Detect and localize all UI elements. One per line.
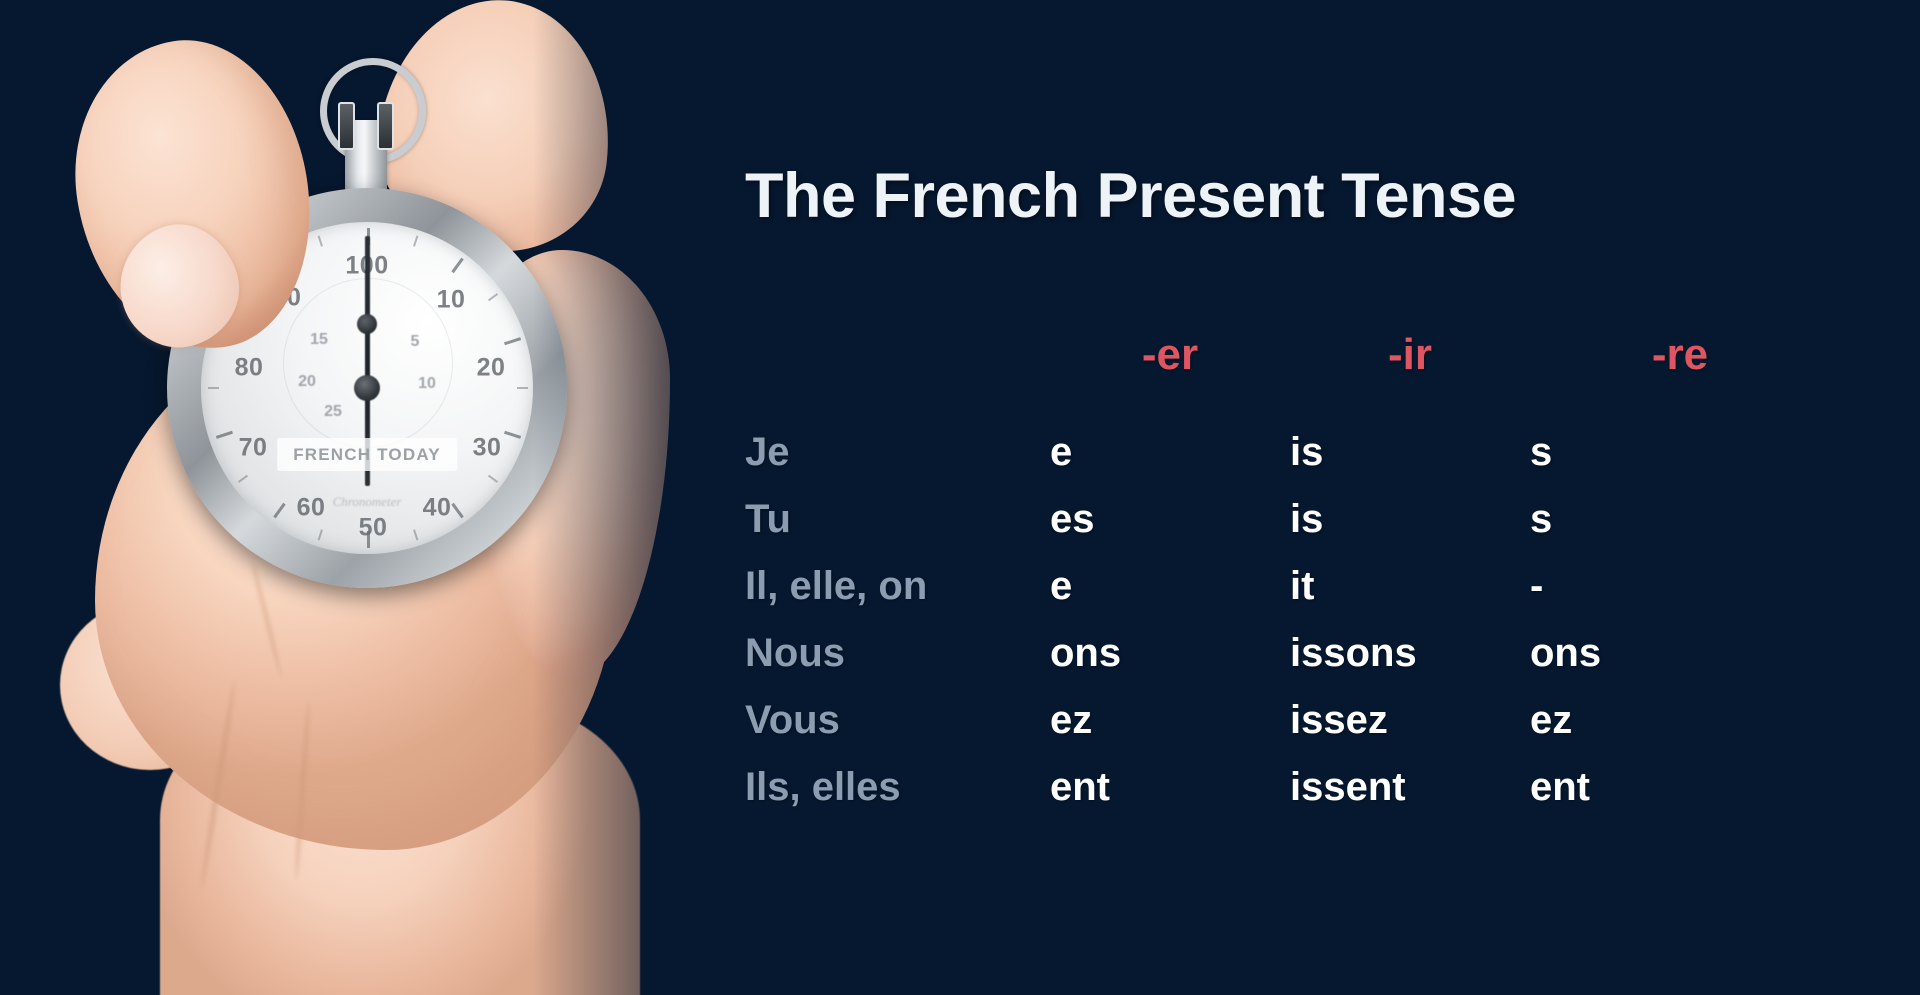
crown-teeth — [338, 102, 394, 146]
ending-ir-cell: is — [1290, 497, 1530, 542]
ending-er-cell: es — [1050, 497, 1290, 542]
dial-tick — [208, 387, 219, 389]
ending-re-cell: s — [1530, 497, 1830, 542]
dial-tick — [488, 475, 498, 483]
table-row: Tu es is s — [745, 497, 1755, 564]
sub-dial-number: 10 — [418, 375, 436, 393]
header-group-re: -re — [1530, 330, 1830, 380]
dial-tick — [451, 503, 463, 519]
dial-number: 80 — [235, 354, 264, 383]
ending-er-cell: ez — [1050, 698, 1290, 743]
dial-tick — [413, 529, 418, 540]
ending-ir-cell: issez — [1290, 698, 1530, 743]
ending-ir-cell: issons — [1290, 631, 1530, 676]
stopwatch-photo: 100 90 80 70 60 50 40 30 20 10 15 20 25 … — [0, 0, 740, 995]
header-group-er: -er — [1050, 330, 1290, 380]
ending-re-cell: ons — [1530, 631, 1830, 676]
dial-tick — [318, 529, 323, 540]
ending-ir-cell: issent — [1290, 765, 1530, 810]
dial-tick — [488, 293, 498, 301]
table-row: Ils, elles ent issent ent — [745, 765, 1755, 832]
infographic-canvas: 100 90 80 70 60 50 40 30 20 10 15 20 25 … — [0, 0, 1920, 995]
dial-tick — [504, 431, 521, 439]
pronoun-cell: Vous — [745, 698, 1050, 743]
dial-tick — [517, 387, 528, 389]
pronoun-cell: Tu — [745, 497, 1050, 542]
sub-dial-number: 15 — [310, 331, 328, 349]
sub-dial-number: 5 — [411, 333, 420, 351]
ending-ir-cell: is — [1290, 430, 1530, 475]
ending-er-cell: ent — [1050, 765, 1290, 810]
dial-tick — [413, 236, 418, 247]
ending-er-cell: e — [1050, 564, 1290, 609]
ending-er-cell: e — [1050, 430, 1290, 475]
dial-tick — [451, 258, 463, 274]
dial-tick — [216, 431, 233, 439]
pronoun-cell: Je — [745, 430, 1050, 475]
brand-plaque: FRENCH TODAY — [277, 438, 457, 471]
header-group-ir: -ir — [1290, 330, 1530, 380]
page-title: The French Present Tense — [745, 160, 1516, 232]
table-header-row: -er -ir -re — [745, 330, 1755, 430]
ending-ir-cell: it — [1290, 564, 1530, 609]
dial-number: 40 — [423, 494, 452, 523]
ending-re-cell: ent — [1530, 765, 1830, 810]
ending-er-cell: ons — [1050, 631, 1290, 676]
pronoun-cell: Ils, elles — [745, 765, 1050, 810]
dial-script-text: Chronometer — [333, 494, 402, 510]
brand-label: FRENCH TODAY — [293, 445, 441, 464]
table-row: Il, elle, on e it - — [745, 564, 1755, 631]
sub-dial-number: 25 — [324, 403, 342, 421]
dial-number: 10 — [437, 286, 466, 315]
table-row: Nous ons issons ons — [745, 631, 1755, 698]
dial-tick — [318, 236, 323, 247]
dial-tick — [273, 503, 285, 519]
sub-dial-number: 20 — [298, 373, 316, 391]
table-row: Vous ez issez ez — [745, 698, 1755, 765]
sub-dial-hub — [357, 314, 377, 334]
dial-number: 30 — [473, 434, 502, 463]
ending-re-cell: s — [1530, 430, 1830, 475]
dial-tick — [504, 337, 521, 345]
ending-re-cell: ez — [1530, 698, 1830, 743]
pronoun-cell: Il, elle, on — [745, 564, 1050, 609]
dial-tick — [238, 475, 248, 483]
pronoun-cell: Nous — [745, 631, 1050, 676]
dial-number: 70 — [239, 434, 268, 463]
conjugation-table: -er -ir -re Je e is s Tu es is s Il, ell… — [745, 330, 1755, 832]
dial-number: 20 — [477, 354, 506, 383]
stopwatch-hub — [354, 375, 380, 401]
ending-re-cell: - — [1530, 564, 1830, 609]
dial-number: 60 — [297, 494, 326, 523]
table-row: Je e is s — [745, 430, 1755, 497]
dial-number: 50 — [359, 514, 388, 543]
